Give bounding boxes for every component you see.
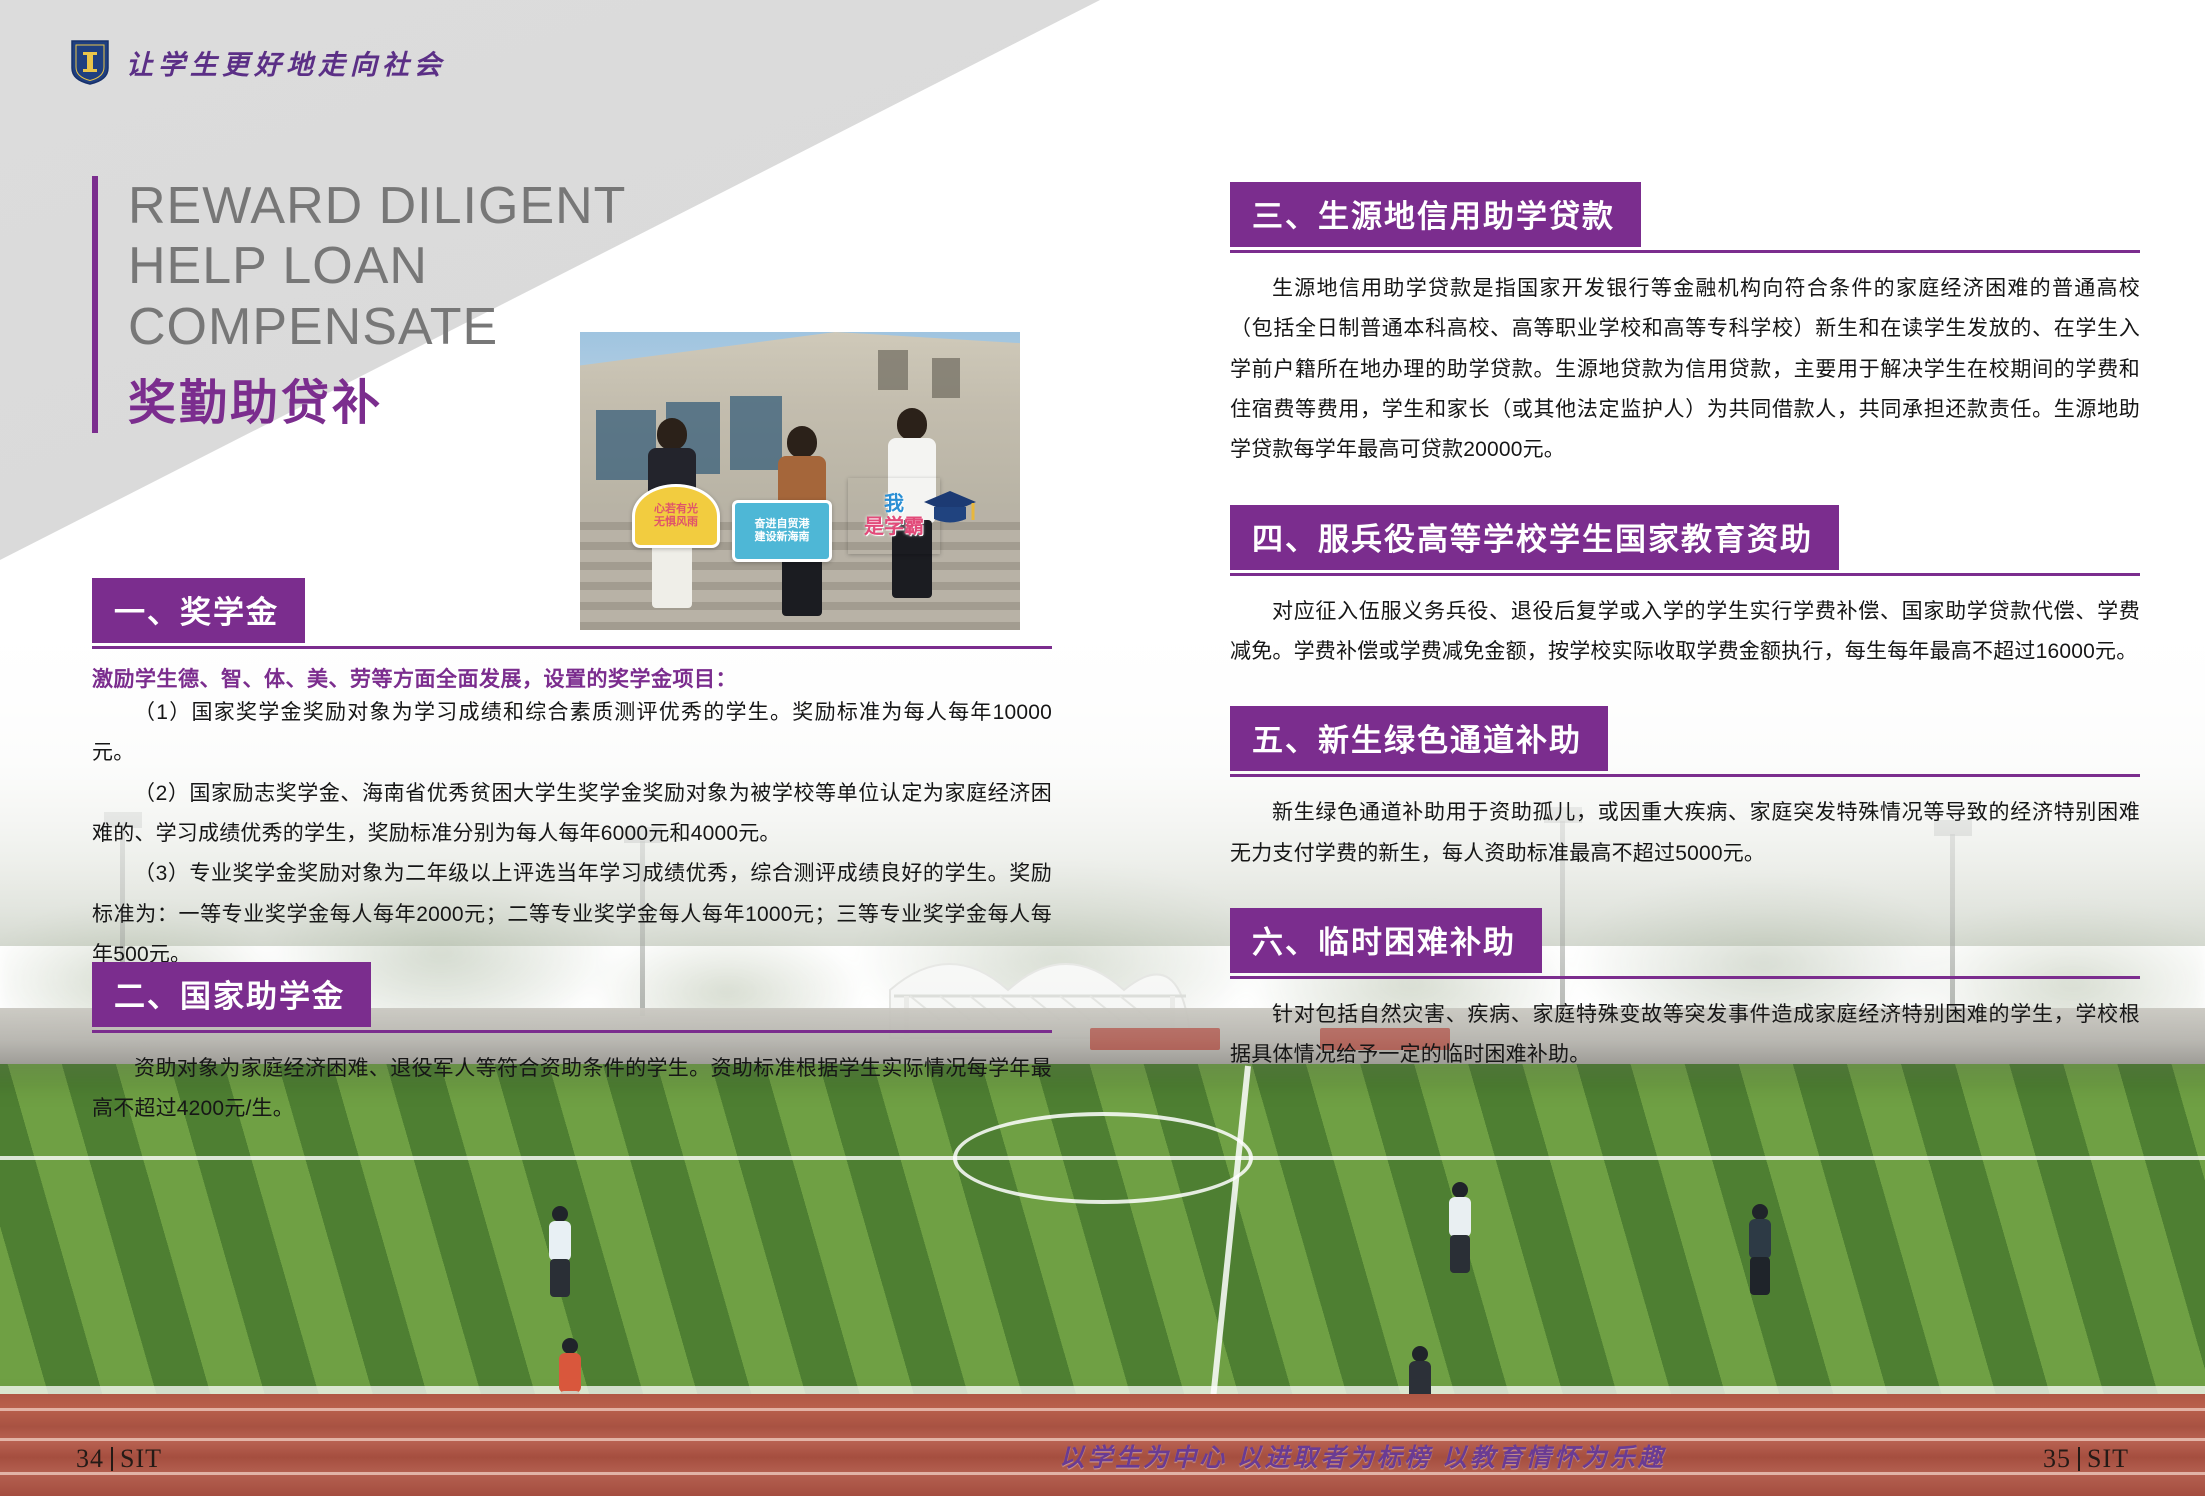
footer-slogan: 以学生为中心 以进取者为标榜 以教育情怀为乐趣 <box>1059 1438 1666 1474</box>
footer-left-page-number: 34 SIT <box>76 1444 162 1474</box>
sign-heart: 心若有光无惧风雨 <box>632 484 720 548</box>
section-badge: 六、临时困难补助 <box>1230 908 1542 973</box>
section-rule <box>1230 573 2140 576</box>
brochure-spread: 让学生更好地走向社会 REWARD DILIGENT HELP LOAN COM… <box>0 0 2205 1496</box>
section-student-loan: 三、生源地信用助学贷款 生源地信用助学贷款是指国家开发银行等金融机构向符合条件的… <box>1230 182 2140 471</box>
section-rule <box>1230 774 2140 777</box>
title-line-2: HELP LOAN <box>128 236 626 296</box>
page-title-block: REWARD DILIGENT HELP LOAN COMPENSATE 奖勤助… <box>92 176 626 433</box>
header-slogan: 让学生更好地走向社会 <box>126 43 446 82</box>
section-paragraph: 针对包括自然灾害、疾病、家庭特殊变故等突发事件造成家庭经济特别困难的学生，学校根… <box>1230 995 2140 1076</box>
section-national-grant: 二、国家助学金 资助对象为家庭经济困难、退役军人等符合资助条件的学生。资助标准根… <box>92 962 1052 1130</box>
title-chinese: 奖勤助贷补 <box>128 363 383 433</box>
section-paragraph: （1）国家奖学金奖励对象为学习成绩和综合素质测评优秀的学生。奖励标准为每人每年1… <box>92 693 1052 774</box>
section-paragraph: 生源地信用助学贷款是指国家开发银行等金融机构向符合条件的家庭经济困难的普通高校（… <box>1230 269 2140 471</box>
left-page-column: REWARD DILIGENT HELP LOAN COMPENSATE 奖勤助… <box>0 0 1100 1496</box>
footer-divider <box>2078 1447 2080 1471</box>
section-badge: 二、国家助学金 <box>92 962 371 1027</box>
section-badge: 五、新生绿色通道补助 <box>1230 706 1608 771</box>
section-rule <box>92 646 1052 649</box>
footer-mark: SIT <box>120 1444 162 1474</box>
section-badge: 一、奖学金 <box>92 578 305 643</box>
section-paragraph: （3）专业奖学金奖励对象为二年级以上评选当年学习成绩优秀，综合测评成绩良好的学生… <box>92 854 1052 975</box>
section-paragraph: （2）国家励志奖学金、海南省优秀贫困大学生奖学金奖励对象为被学校等单位认定为家庭… <box>92 774 1052 855</box>
page-number: 35 <box>2043 1444 2071 1474</box>
page-header: 让学生更好地走向社会 <box>70 38 446 86</box>
footer-mark: SIT <box>2087 1444 2129 1474</box>
play-triangle-icon <box>405 370 445 422</box>
section-paragraph: 新生绿色通道补助用于资助孤儿，或因重大疾病、家庭突发特殊情况等导致的经济特别困难… <box>1230 793 2140 874</box>
section-green-channel-subsidy: 五、新生绿色通道补助 新生绿色通道补助用于资助孤儿，或因重大疾病、家庭突发特殊情… <box>1230 706 2140 874</box>
graduation-cap-icon <box>920 486 980 530</box>
school-crest-icon <box>70 38 110 86</box>
section-paragraph: 对应征入伍服义务兵役、退役后复学或入学的学生实行学费补偿、国家助学贷款代偿、学费… <box>1230 592 2140 673</box>
section-scholarship: 一、奖学金 激励学生德、智、体、美、劳等方面全面发展，设置的奖学金项目： （1）… <box>92 578 1052 975</box>
right-page-column: 三、生源地信用助学贷款 生源地信用助学贷款是指国家开发银行等金融机构向符合条件的… <box>1230 182 2140 1101</box>
sign-blue: 奋进自贸港建设新海南 <box>732 500 832 562</box>
section-rule <box>92 1030 1052 1033</box>
section-rule <box>1230 976 2140 979</box>
footer-right-page-number: 35 SIT <box>2043 1444 2129 1474</box>
page-number: 34 <box>76 1444 104 1474</box>
title-line-1: REWARD DILIGENT <box>128 176 626 236</box>
footer-divider <box>111 1447 113 1471</box>
section-temporary-hardship-subsidy: 六、临时困难补助 针对包括自然灾害、疾病、家庭特殊变故等突发事件造成家庭经济特别… <box>1230 908 2140 1076</box>
section-badge: 四、服兵役高等学校学生国家教育资助 <box>1230 505 1839 570</box>
section-badge: 三、生源地信用助学贷款 <box>1230 182 1641 247</box>
title-line-3: COMPENSATE <box>128 297 626 357</box>
section-intro: 激励学生德、智、体、美、劳等方面全面发展，设置的奖学金项目： <box>92 663 1052 693</box>
section-rule <box>1230 250 2140 253</box>
section-military-service-aid: 四、服兵役高等学校学生国家教育资助 对应征入伍服义务兵役、退役后复学或入学的学生… <box>1230 505 2140 673</box>
section-paragraph: 资助对象为家庭经济困难、退役军人等符合资助条件的学生。资助标准根据学生实际情况每… <box>92 1049 1052 1130</box>
